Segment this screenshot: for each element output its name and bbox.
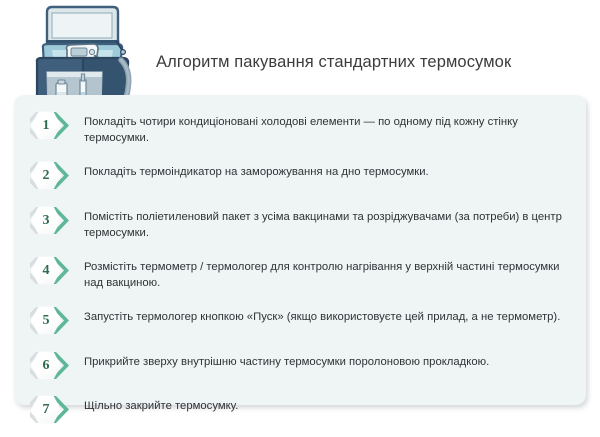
list-item: 3 Помістіть поліетиленовий пакет з усіма… <box>30 204 572 241</box>
list-item: 6 Прикрийте зверху внутрішню частину тер… <box>30 349 572 381</box>
step-number: 6 <box>31 351 61 380</box>
list-item: 2 Покладіть термоіндикатор на заморожува… <box>30 159 572 191</box>
step-text: Покладіть термоіндикатор на заморожуванн… <box>84 159 572 180</box>
step-number-badge: 1 <box>30 110 72 141</box>
list-item: 5 Запустіть термологер кнопкою «Пуск» (я… <box>30 304 572 336</box>
step-number-badge: 6 <box>30 350 72 381</box>
step-text: Прикрийте зверху внутрішню частину термо… <box>84 349 572 370</box>
step-text: Покладіть чотири кондиціоновані холодові… <box>84 109 572 146</box>
steps-card: 1 Покладіть чотири кондиціоновані холодо… <box>14 95 586 405</box>
step-text: Помістіть поліетиленовий пакет з усіма в… <box>84 204 572 241</box>
step-number: 2 <box>31 161 61 190</box>
step-number-badge: 3 <box>30 205 72 236</box>
step-number-badge: 4 <box>30 255 72 286</box>
step-number: 3 <box>31 206 61 235</box>
step-number-badge: 7 <box>30 394 72 425</box>
step-number: 5 <box>31 306 61 335</box>
step-number-badge: 5 <box>30 305 72 336</box>
step-number-badge: 2 <box>30 160 72 191</box>
step-number: 7 <box>31 395 61 424</box>
list-item: 1 Покладіть чотири кондиціоновані холодо… <box>30 109 572 146</box>
step-text: Розмістіть термометр / термологер для ко… <box>84 254 572 291</box>
step-number: 1 <box>31 111 61 140</box>
step-text: Щільно закрийте термосумку. <box>84 393 572 414</box>
list-item: 4 Розмістіть термометр / термологер для … <box>30 254 572 291</box>
page-title: Алгоритм пакування стандартних термосумо… <box>156 52 576 72</box>
list-item: 7 Щільно закрийте термосумку. <box>30 393 572 425</box>
steps-list: 1 Покладіть чотири кондиціоновані холодо… <box>14 109 586 437</box>
step-number: 4 <box>31 256 61 285</box>
step-text: Запустіть термологер кнопкою «Пуск» (якщ… <box>84 304 572 325</box>
